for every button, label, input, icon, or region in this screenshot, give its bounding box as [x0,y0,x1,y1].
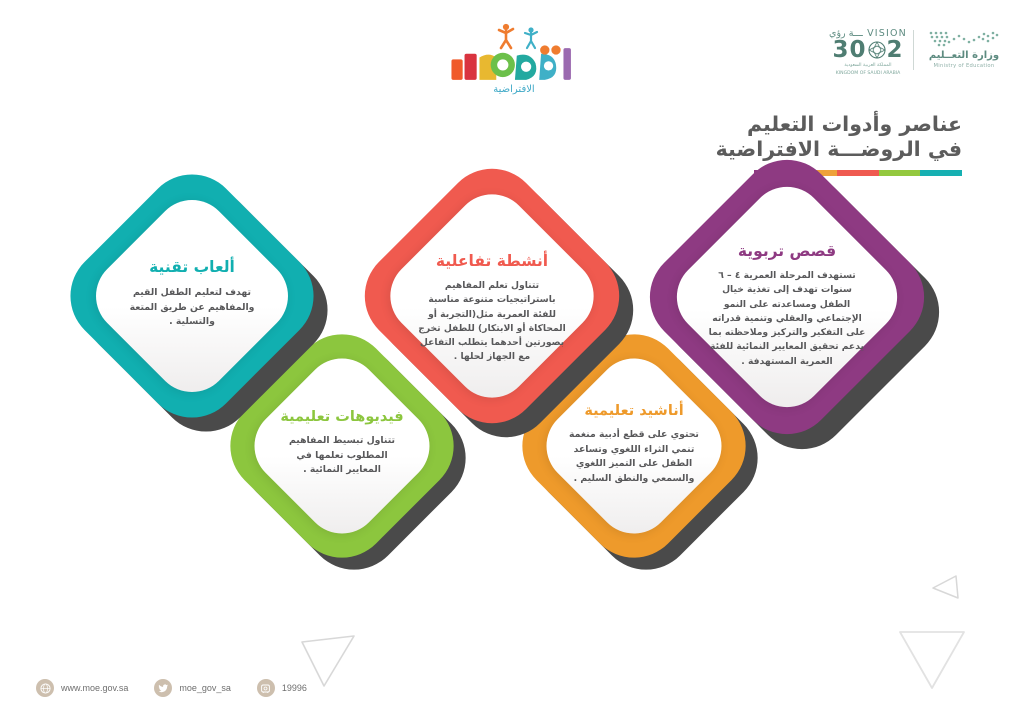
logo-divider [913,30,914,70]
bar-segment-green [879,170,921,176]
phone-number: 19996 [282,683,307,693]
card-body: تستهدف المرحلة العمرية ٤ – ٦ سنوات تهدف … [707,269,867,369]
bar-segment-teal [920,170,962,176]
card-body: تحتوي على قطع أدبية منغمة تنمي الثراء ال… [567,428,701,486]
card-content: فيديوهات تعليمية تتناول تبسيط المفاهيم ا… [263,409,421,478]
vision-kingdom-ar: المملكة العربية السعودية [826,63,910,69]
card-title: ألعاب تقنية [149,258,235,276]
website-url: www.moe.gov.sa [61,683,128,693]
vision-emblem-icon [867,40,887,60]
footer-website[interactable]: www.moe.gov.sa [36,679,128,697]
ministry-name-en: Ministry of Education [925,63,1003,69]
footer-contact-bar: www.moe.gov.sa moe_gov_sa 19996 [36,676,333,700]
vision-kingdom-en: KINGDOM OF SAUDI ARABIA [826,71,910,77]
bar-segment-red [837,170,879,176]
virtual-kindergarten-logo: الافتراضية [444,22,584,100]
card-interactive-activities[interactable]: أنشطة تفاعلية تتناول تعلم المفاهيم باستر… [388,192,596,400]
card-body: تهدف لتعليم الطفل القيم والمفاهيم عن طري… [124,286,260,330]
twitter-handle: moe_gov_sa [179,683,231,693]
footer-phone[interactable]: 19996 [257,679,307,697]
decorative-triangle-small [928,572,962,602]
card-content: أناشيد تعليمية تحتوي على قطع أدبية منغمة… [553,403,715,486]
card-title: أناشيد تعليمية [584,403,683,419]
globe-icon [36,679,54,697]
title-line-1: عناصر وأدوات التعليم [600,112,962,137]
logo-subtitle: الافتراضية [444,84,584,95]
twitter-bird-icon [154,679,172,697]
ministry-name-ar: وزارة التعــليم [925,50,1003,61]
vision-number: 2 [887,37,904,63]
logo-arabic-wordmark-icon [444,44,584,84]
card-body: تتناول تعلم المفاهيم باستراتيجيات متنوعة… [416,279,568,365]
card-content: ألعاب تقنية تهدف لتعليم الطفل القيم والم… [106,258,278,330]
infographic-canvas: الافتراضية VISION ـــة رؤي 230 المملكة ا… [0,0,1024,724]
card-title: أنشطة تفاعلية [436,252,548,270]
telephone-icon [257,679,275,697]
card-educational-stories[interactable]: قصص تربوية تستهدف المرحلة العمرية ٤ – ٦ … [676,186,898,408]
card-title: قصص تربوية [738,242,836,260]
decorative-triangle-right [892,624,972,696]
vision-2030-logo: VISION ـــة رؤي 230 المملكة العربية السع… [826,28,910,72]
logo-wordmark [444,44,584,84]
card-content: قصص تربوية تستهدف المرحلة العمرية ٤ – ٦ … [686,242,888,369]
moe-dots-icon [925,30,1003,50]
card-body: تتناول تبسيط المفاهيم المطلوب تعلمها في … [278,434,406,478]
card-content: أنشطة تفاعلية تتناول تعلم المفاهيم باستر… [400,252,584,365]
vision-number-tail: 30 [832,37,866,63]
card-tech-games[interactable]: ألعاب تقنية تهدف لتعليم الطفل القيم والم… [92,196,292,396]
ministry-of-education-logo: وزارة التعــليم Ministry of Education [925,30,1003,74]
card-title: فيديوهات تعليمية [280,409,403,425]
title-line-2: في الروضـــة الافتراضية [600,137,962,162]
footer-twitter[interactable]: moe_gov_sa [154,679,231,697]
